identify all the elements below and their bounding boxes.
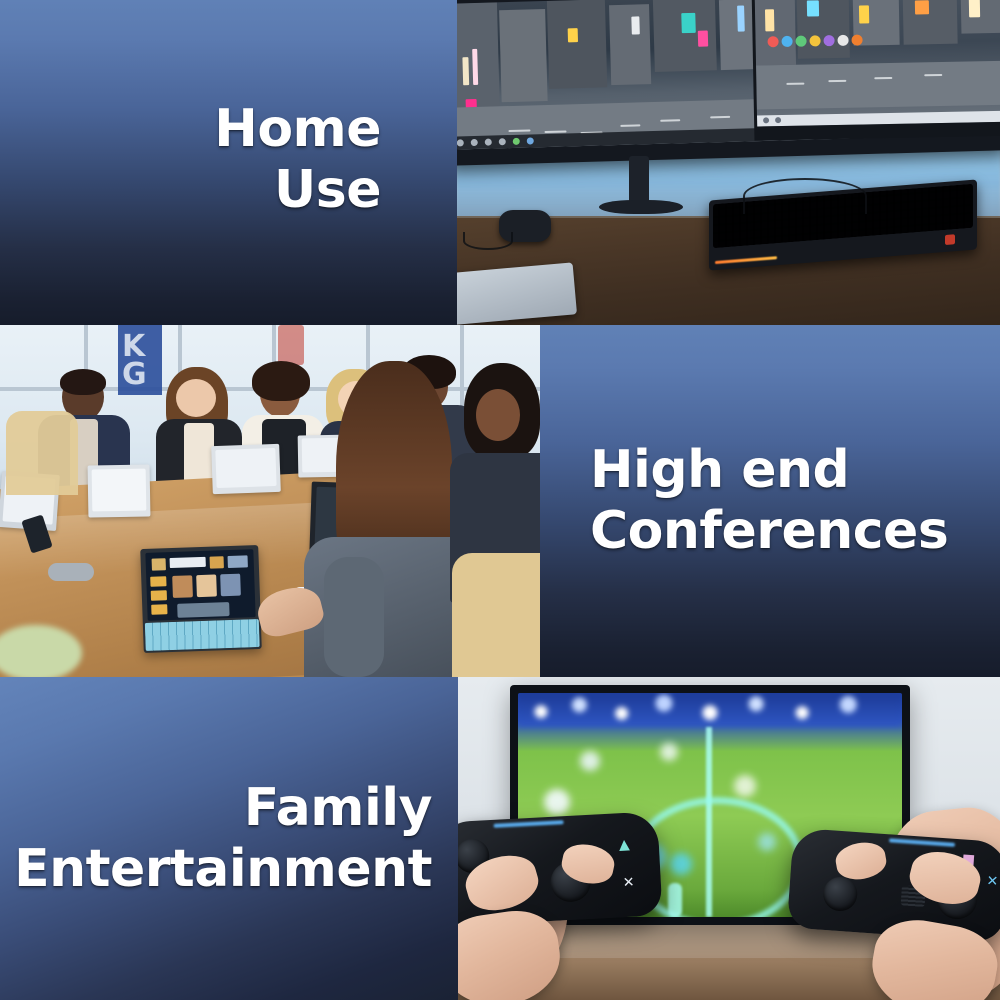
monitor-secondary xyxy=(752,0,1000,141)
panel-home-use: Home Use xyxy=(0,0,457,325)
monitor-secondary-screen xyxy=(755,0,1000,127)
wall-sign xyxy=(278,325,304,365)
speaker-cable xyxy=(463,232,513,250)
caption-high-end-conferences: High end Conferences xyxy=(540,440,1000,562)
cross-button: ✕ xyxy=(622,875,635,892)
keyboard-cable xyxy=(743,178,867,214)
panel-high-end-conferences: High end Conferences xyxy=(540,325,1000,677)
keyboard-logo xyxy=(945,234,955,245)
panel-gaming-photo: ▲ ■ ✕ ■ ✕ xyxy=(458,677,1000,1000)
monitor-stand-base xyxy=(599,200,683,214)
chair-left-back xyxy=(6,411,78,495)
gaming-illustration: ▲ ■ ✕ ■ ✕ xyxy=(458,677,1000,1000)
tablet-screen xyxy=(145,549,255,621)
wall-banner: K G xyxy=(118,325,162,395)
triangle-button: ▲ xyxy=(618,837,630,854)
macos-dock xyxy=(767,33,862,48)
panel-desk-setup-photo xyxy=(457,0,1000,325)
panel-conference-photo: K G xyxy=(0,325,540,677)
laptop xyxy=(457,262,577,325)
laptop-far-2 xyxy=(211,444,281,494)
caption-home-use: Home Use xyxy=(0,99,457,221)
keyboard-rgb-light xyxy=(715,256,777,264)
caption-family-entertainment: Family Entertainment xyxy=(0,778,458,900)
panel-family-entertainment: Family Entertainment xyxy=(0,677,458,1000)
tablet-keyboard xyxy=(145,619,260,651)
conference-microphone xyxy=(48,563,94,581)
desk-setup-illustration xyxy=(457,0,1000,325)
tablet-with-keyboard xyxy=(140,545,262,653)
office-chair xyxy=(452,553,540,677)
stadium-crowd xyxy=(518,693,902,727)
use-case-collage: Home Use xyxy=(0,0,1000,1000)
tablet-far-1 xyxy=(88,464,151,517)
conference-room-illustration: K G xyxy=(0,325,540,677)
cross-button: ✕ xyxy=(986,873,999,890)
